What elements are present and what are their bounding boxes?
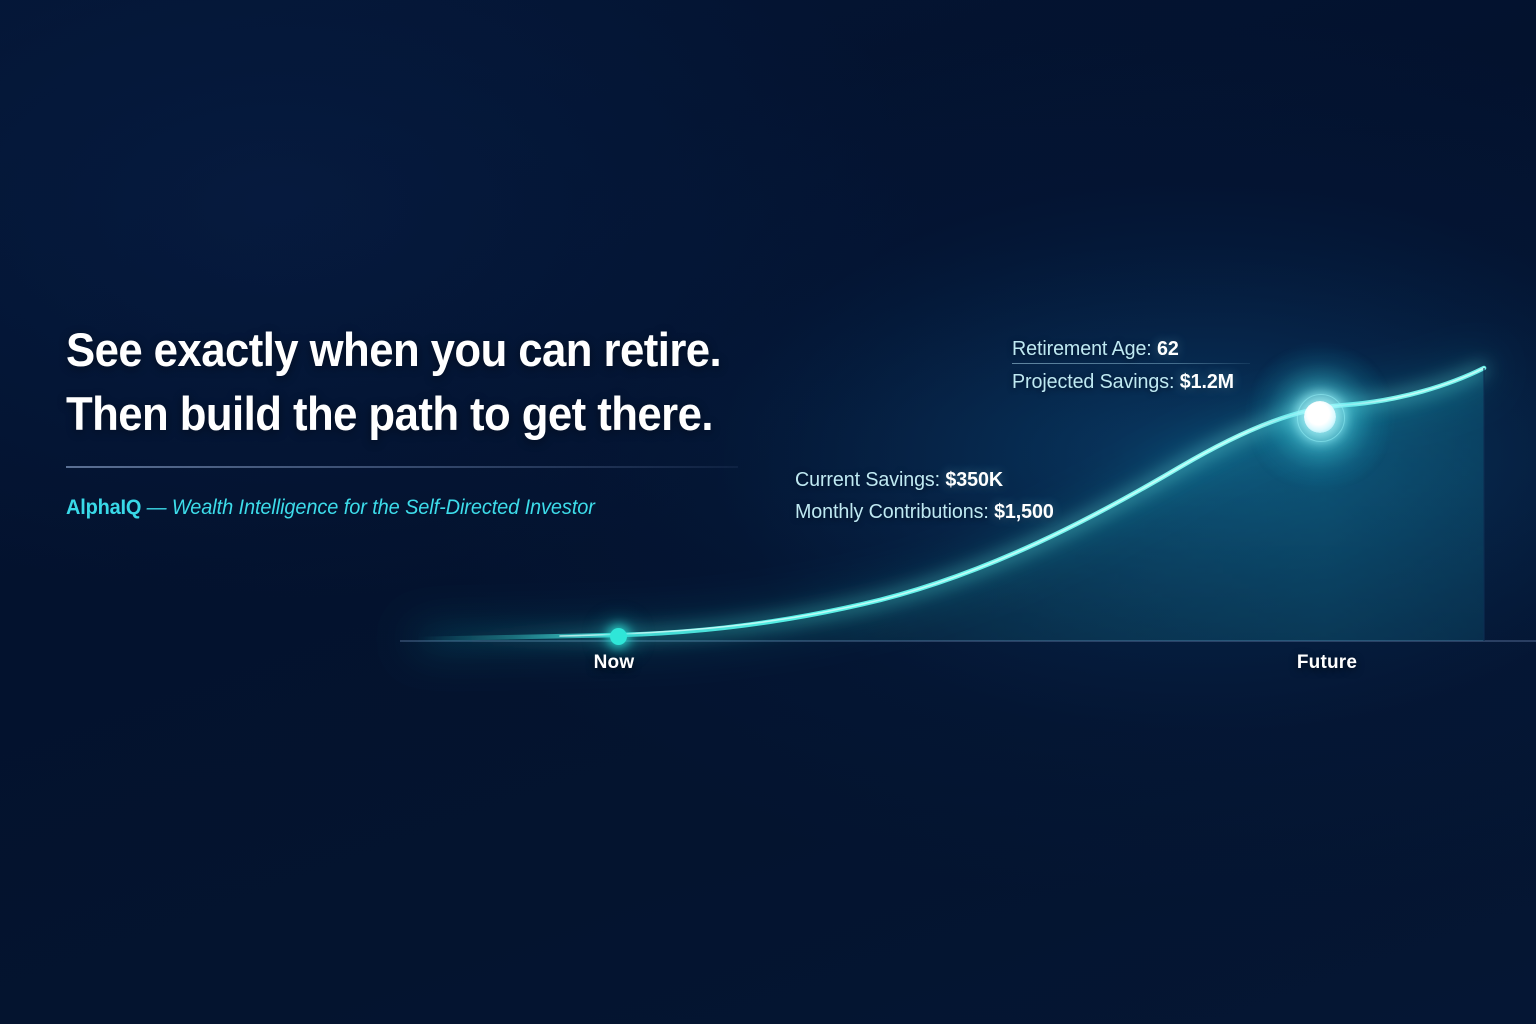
annotation-current-savings-label: Current Savings: bbox=[795, 468, 945, 491]
annotation-retirement-age-label: Retirement Age: bbox=[1012, 337, 1157, 360]
hero-canvas: See exactly when you can retire. Then bu… bbox=[0, 0, 1536, 1024]
annotation-current-savings-value: $350K bbox=[945, 468, 1003, 491]
annotation-projected-savings: Projected Savings: $1.2M bbox=[1012, 370, 1234, 394]
annotation-monthly-contributions: Monthly Contributions: $1,500 bbox=[795, 500, 1054, 524]
axis-label-now: Now bbox=[594, 652, 635, 674]
axis-label-future: Future bbox=[1297, 652, 1357, 674]
brand-tagline: AlphaIQ — Wealth Intelligence for the Se… bbox=[66, 496, 595, 520]
annotation-current-savings: Current Savings: $350K bbox=[795, 468, 1003, 492]
annotation-divider bbox=[1012, 363, 1250, 364]
hero-headline-block: See exactly when you can retire. Then bu… bbox=[66, 318, 766, 446]
now-marker-dot[interactable] bbox=[610, 628, 627, 645]
annotation-monthly-contributions-label: Monthly Contributions: bbox=[795, 500, 994, 523]
future-marker-dot[interactable] bbox=[1304, 401, 1336, 433]
annotation-projected-savings-label: Projected Savings: bbox=[1012, 370, 1180, 393]
annotation-retirement-age-value: 62 bbox=[1157, 337, 1179, 360]
headline-line-1: See exactly when you can retire. bbox=[66, 318, 717, 382]
brand-name: AlphaIQ bbox=[66, 496, 141, 519]
annotation-retirement-age: Retirement Age: 62 bbox=[1012, 337, 1179, 361]
annotation-monthly-contributions-value: $1,500 bbox=[994, 500, 1054, 523]
brand-tagline-text: — Wealth Intelligence for the Self-Direc… bbox=[141, 496, 595, 519]
headline-line-2: Then build the path to get there. bbox=[66, 382, 717, 446]
headline-divider bbox=[66, 466, 738, 468]
annotation-projected-savings-value: $1.2M bbox=[1180, 370, 1234, 393]
